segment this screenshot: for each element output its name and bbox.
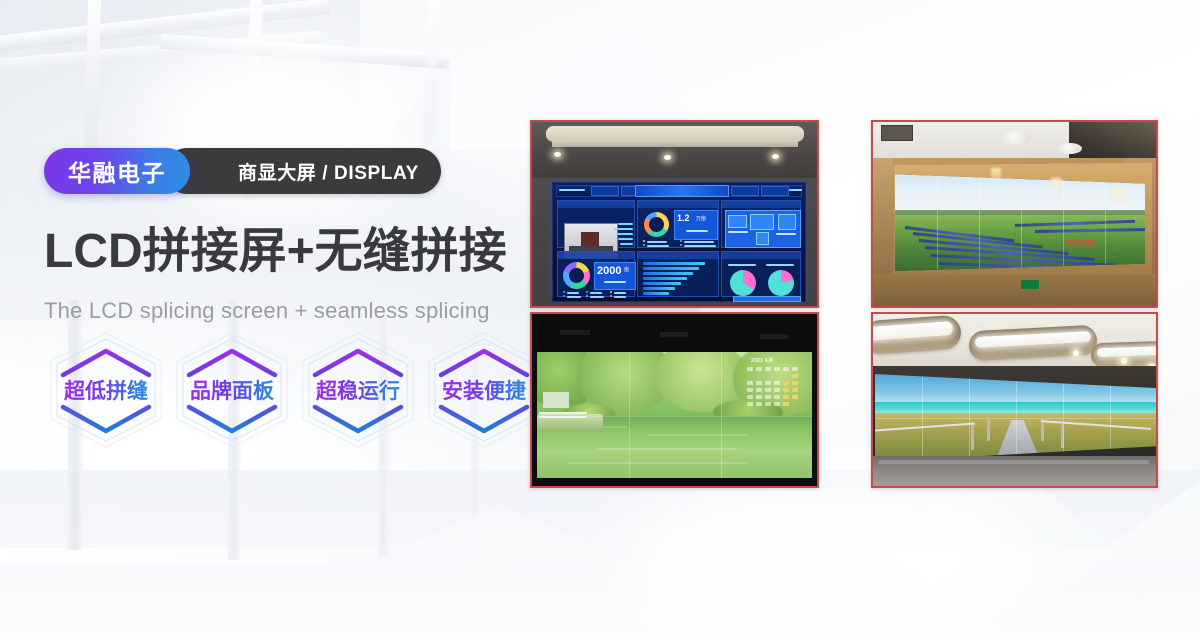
calendar-cell [774, 402, 780, 406]
card-text-line [614, 228, 633, 230]
flow-node [756, 232, 769, 245]
donut-chart-hole [649, 217, 664, 232]
wall-wash-lamp [1113, 188, 1123, 204]
flow-node [728, 215, 747, 228]
donut-chart-hole [569, 268, 584, 283]
bar-chart-bar [643, 292, 669, 295]
ceiling-vent [881, 125, 913, 141]
kpi-value: 2000 [597, 266, 621, 277]
legend-dot [643, 244, 645, 246]
feature-item-1: 品牌面板 [173, 331, 291, 449]
bezel-logo [560, 330, 590, 335]
downlight [1073, 350, 1079, 356]
calendar-title: 2021 6月 [751, 357, 773, 364]
legend-label [567, 292, 579, 294]
feature-label: 品牌面板 [190, 375, 274, 405]
card-text-line [618, 238, 633, 240]
wall-wash-lamp [1051, 178, 1061, 194]
content-building [1065, 240, 1095, 246]
right-bezel [812, 314, 817, 486]
panel-seam [1063, 168, 1064, 272]
flow-node [778, 214, 796, 230]
calendar-cell [783, 381, 789, 385]
legend-dot [680, 244, 682, 246]
subheadline: The LCD splicing screen + seamless splic… [44, 298, 490, 324]
panel-seam [979, 168, 980, 272]
bank-railing [539, 412, 587, 414]
dashboard-title-plate [635, 185, 729, 197]
panel-seam [537, 416, 812, 417]
background-glow-2 [620, 470, 1040, 640]
dashboard-card [557, 200, 635, 248]
bar-chart-bar [643, 272, 693, 275]
bar-chart-bar [643, 287, 675, 290]
calendar-cell [747, 388, 753, 392]
feature-item-0: 超低拼缝 [47, 331, 165, 449]
exit-sign [1021, 280, 1039, 289]
feature-label: 超稳运行 [316, 375, 400, 405]
dashboard-user-label [789, 189, 802, 191]
flow-node [750, 214, 774, 230]
background-facet-5 [520, 0, 700, 120]
legend-label [684, 245, 716, 247]
floor-reflection [879, 460, 1149, 464]
legend-dot [680, 240, 682, 242]
calendar-cell [756, 395, 762, 399]
feature-list: 超低拼缝 品牌面板 [47, 331, 543, 449]
pie-chart [730, 270, 756, 296]
feature-label: 安装便捷 [442, 375, 526, 405]
category-badge-label: 商显大屏 / DISPLAY [238, 158, 419, 185]
calendar-cell [783, 367, 789, 371]
gallery-photo-willow-lake-calendar: 2021 6月 [530, 312, 819, 488]
dashboard-nav-button [591, 186, 619, 196]
calendar-cell [747, 367, 753, 371]
dashboard-card: 1.2 万亩 [637, 200, 719, 248]
legend-label [647, 241, 667, 243]
ceiling-spotlight [664, 155, 671, 160]
content-boardwalk-rail [987, 419, 990, 441]
ceiling-dome-light [1058, 143, 1082, 154]
content-boardwalk-rail [971, 422, 974, 450]
calendar-cell [756, 388, 762, 392]
calendar-cell [783, 388, 789, 392]
calendar-cell [747, 381, 753, 385]
wall-wash-lamp [991, 168, 1001, 184]
card-header [722, 252, 800, 259]
chart-legend-row [766, 264, 794, 266]
feature-label: 超低拼缝 [64, 375, 148, 405]
flow-label [776, 233, 796, 235]
card-text-line [618, 223, 633, 225]
calendar-cell [765, 367, 771, 371]
calendar-cell [765, 402, 771, 406]
calendar-cell [783, 395, 789, 399]
panel-seam [937, 168, 938, 272]
legend-dot [586, 295, 588, 297]
legend-dot [586, 291, 588, 293]
calendar-cell [774, 395, 780, 399]
bar-chart-bar [643, 282, 681, 285]
water-reflection [597, 448, 737, 450]
dashboard-card [637, 251, 719, 297]
calendar-cell [765, 388, 771, 392]
gallery-photo-control-room-dashboard: 1.2 万亩 [530, 120, 819, 308]
calendar-cell [792, 388, 798, 392]
calendar-cell [747, 402, 753, 406]
chart-legend-row [728, 264, 756, 266]
calendar-cell [792, 395, 798, 399]
calendar-cell [774, 388, 780, 392]
background-facet-3 [1090, 480, 1200, 560]
calendar-cell [792, 374, 798, 378]
calendar-cell [765, 381, 771, 385]
calendar-cell [765, 395, 771, 399]
calendar-cell [792, 367, 798, 371]
card-text-line [620, 243, 633, 245]
wall-base-panel [873, 274, 1156, 306]
kpi-unit: 亩 [624, 268, 629, 273]
dashboard-timestamp [559, 189, 585, 191]
dashboard-card: 2000 亩 [557, 251, 635, 297]
gallery-photo-wide-videowall-solar [871, 120, 1158, 308]
calendar-cell [774, 367, 780, 371]
dashboard-nav-button [731, 186, 759, 196]
ceiling-spotlight [772, 154, 779, 159]
panel-seam [875, 418, 1156, 419]
calendar-cell [756, 367, 762, 371]
calendar-cell [774, 381, 780, 385]
legend-label [590, 296, 604, 298]
legend-label [684, 241, 714, 243]
dashboard-video-wall: 1.2 万亩 [552, 182, 806, 302]
panel-seam [1021, 168, 1022, 272]
card-header [638, 252, 718, 259]
gallery-photo-lobby-videowall-beach [871, 312, 1158, 488]
dashboard-card [721, 200, 801, 248]
category-badge: 商显大屏 / DISPLAY [164, 148, 441, 194]
calendar-cell [747, 395, 753, 399]
panel-seam [1105, 168, 1106, 272]
card-header [638, 201, 718, 208]
downlight [1121, 358, 1127, 364]
legend-dot [643, 240, 645, 242]
legend-dot [563, 291, 565, 293]
calendar-cell [756, 381, 762, 385]
dashboard-ticker [733, 296, 801, 302]
legend-label [590, 292, 602, 294]
ceiling-spotlight [554, 152, 561, 157]
card-header [558, 201, 634, 208]
kpi-caption [686, 230, 708, 232]
legend-label [647, 245, 669, 247]
card-header [558, 252, 634, 259]
bar-chart-bar [643, 267, 699, 270]
bottom-bezel [532, 478, 817, 486]
bar-chart-bar [643, 277, 687, 280]
content-horizon [895, 210, 1145, 215]
brand-badge: 华融电子 [44, 148, 190, 194]
left-bezel [532, 314, 537, 486]
banner-stage: 商显大屏 / DISPLAY 华融电子 LCD拼接屏+无缝拼接 The LCD … [0, 0, 1200, 640]
lcd-video-wall [895, 168, 1145, 272]
brand-badge-group: 商显大屏 / DISPLAY 华融电子 [44, 148, 190, 194]
lakeside-building [543, 392, 569, 408]
card-header [722, 201, 800, 208]
bezel-logo [760, 334, 788, 339]
dashboard-nav-button [761, 186, 789, 196]
calendar-cell [756, 402, 762, 406]
flow-label [728, 231, 748, 233]
lcd-video-wall [875, 374, 1156, 462]
legend-dot [610, 295, 612, 297]
pie-chart [768, 270, 794, 296]
legend-label [614, 296, 626, 298]
legend-label [567, 296, 581, 298]
water-reflection [647, 434, 747, 436]
legend-label [614, 292, 626, 294]
kpi-caption [604, 281, 626, 283]
kpi-unit: 万亩 [696, 217, 706, 222]
ceiling-dome-light [1001, 131, 1031, 145]
calendar-cell [783, 402, 789, 406]
bar-chart-bar [643, 262, 705, 265]
ceiling-cove-shadow [552, 140, 798, 147]
legend-dot [610, 291, 612, 293]
dashboard-card [721, 251, 801, 297]
background-facet-4 [340, 505, 660, 575]
kpi-value: 1.2 [677, 214, 690, 223]
brand-badge-label: 华融电子 [68, 154, 166, 188]
calendar-overlay: 2021 6月 [745, 357, 807, 412]
headline: LCD拼接屏+无缝拼接 [44, 228, 507, 276]
legend-dot [563, 295, 565, 297]
feature-item-2: 超稳运行 [299, 331, 417, 449]
feature-item-3: 安装便捷 [425, 331, 543, 449]
lcd-video-wall: 2021 6月 [537, 352, 812, 480]
card-text-line [616, 233, 633, 235]
calendar-cell [792, 381, 798, 385]
water-reflection [567, 462, 747, 464]
bezel-logo [660, 332, 688, 337]
